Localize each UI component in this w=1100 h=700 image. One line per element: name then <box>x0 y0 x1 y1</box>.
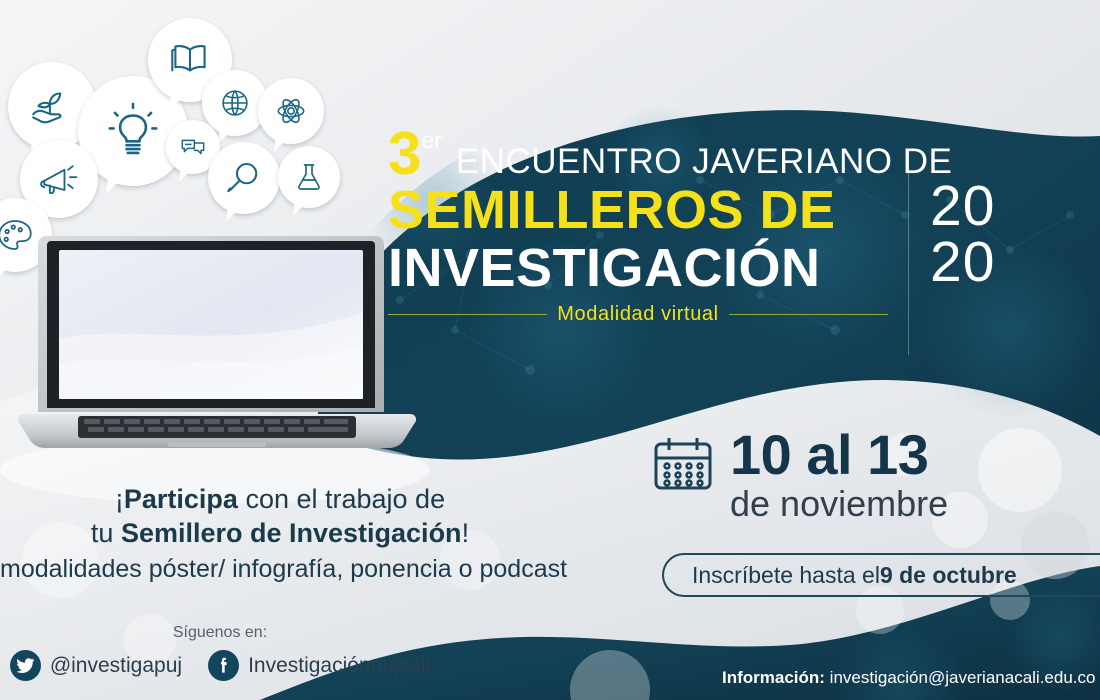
twitter-icon <box>10 650 41 681</box>
modality-rule-left <box>388 314 547 315</box>
year-top: 20 <box>930 178 995 234</box>
year-bottom: 20 <box>930 234 995 290</box>
event-kicker: ENCUENTRO JAVERIANO DE <box>456 142 953 182</box>
event-title-line-1: SEMILLEROS DE <box>388 181 908 239</box>
laptop-illustration <box>18 228 418 478</box>
social-follow: Síguenos en: @investigapuj Investigación… <box>0 624 440 681</box>
deadline-prefix: Inscríbete hasta el <box>692 562 880 589</box>
atom-icon <box>258 78 324 144</box>
follow-label: Síguenos en: <box>0 624 440 642</box>
calendar-icon <box>652 434 714 494</box>
cta-line-3: modalidades póster/ infografía, ponencia… <box>0 552 560 586</box>
event-date-block: 10 al 13 de noviembre <box>652 428 948 524</box>
magnifier-icon <box>208 142 280 214</box>
facebook-icon <box>208 650 239 681</box>
deadline-date: 9 de octubre <box>880 562 1017 589</box>
event-year: 20 20 <box>930 178 995 290</box>
social-account-twitter[interactable]: @investigapuj <box>10 650 182 681</box>
twitter-handle: @investigapuj <box>50 654 182 678</box>
contact-label: Información: <box>722 668 825 687</box>
date-month: de noviembre <box>730 484 948 524</box>
modality-row: Modalidad virtual <box>388 303 888 326</box>
event-title-line-2: INVESTIGACIÓN <box>388 239 908 297</box>
date-range: 10 al 13 <box>730 428 948 482</box>
registration-deadline-pill[interactable]: Inscríbete hasta el 9 de octubre <box>662 553 1100 597</box>
flask-icon <box>278 146 340 208</box>
contact-email[interactable]: investigación@javerianacali.edu.co <box>825 668 1096 687</box>
contact-info: Información: investigación@javerianacali… <box>722 668 1095 688</box>
call-to-action: ¡Participa con el trabajo de tu Semiller… <box>0 482 560 586</box>
ordinal-suffix: er <box>421 129 441 152</box>
modality-rule-right <box>729 314 888 315</box>
cta-line-1: ¡Participa con el trabajo de <box>0 482 560 516</box>
laptop-trackpad <box>168 442 266 447</box>
social-account-facebook[interactable]: Investigaciónpujcali <box>208 650 430 681</box>
event-banner: 3 er ENCUENTRO JAVERIANO DE SEMILLEROS D… <box>0 0 1100 700</box>
year-divider <box>908 170 909 355</box>
cta-line-2: tu Semillero de Investigación! <box>0 516 560 550</box>
modality-label: Modalidad virtual <box>557 303 718 326</box>
ordinal-number: 3 <box>388 128 420 180</box>
facebook-handle: Investigaciónpujcali <box>248 654 430 678</box>
event-headline: 3 er ENCUENTRO JAVERIANO DE SEMILLEROS D… <box>388 118 908 326</box>
